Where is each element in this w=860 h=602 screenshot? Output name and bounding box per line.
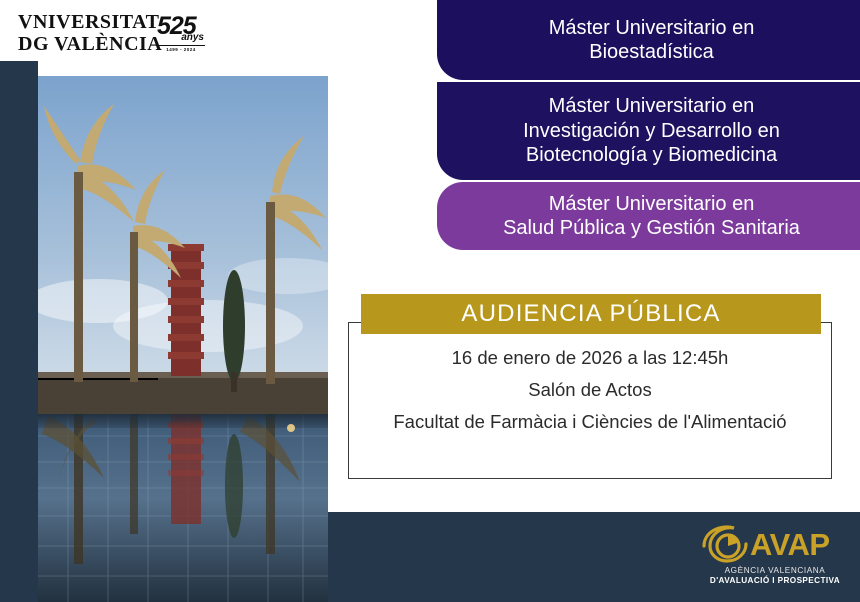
program-block-bioestadistica: Máster Universitario en Bioestadística <box>437 0 860 80</box>
left-accent-strip <box>0 61 38 602</box>
poster-root: VNIVERSITAT DG VALÈNCIA 525 anys 1499 - … <box>0 0 860 602</box>
program-line2: Salud Pública y Gestión Sanitaria <box>503 216 800 240</box>
program-block-biotecnologia-biomedicina: Máster Universitario en Investigación y … <box>437 82 860 180</box>
university-logo: VNIVERSITAT DG VALÈNCIA <box>18 12 158 56</box>
avap-logo: AVAP AGÈNCIA VALENCIANA D'AVALUACIÓ I PR… <box>700 524 850 594</box>
campus-photo <box>38 76 328 602</box>
event-datetime: 16 de enero de 2026 a las 12:45h <box>348 342 832 374</box>
program-block-salud-publica: Máster Universitario en Salud Pública y … <box>437 182 860 250</box>
event-faculty: Facultat de Farmàcia i Ciències de l'Ali… <box>348 406 832 438</box>
avap-eye-icon <box>700 524 756 564</box>
avap-acronym: AVAP <box>750 529 830 560</box>
program-line1: Máster Universitario en <box>549 16 755 40</box>
university-logo-line1: VNIVERSITAT <box>18 12 158 32</box>
program-line3: Biotecnología y Biomedicina <box>523 143 780 167</box>
program-line1: Máster Universitario en <box>503 192 800 216</box>
event-details: 16 de enero de 2026 a las 12:45h Salón d… <box>348 342 832 437</box>
avap-logo-top: AVAP <box>700 524 850 564</box>
university-logo-line2: DG VALÈNCIA <box>18 34 158 54</box>
program-line2: Bioestadística <box>549 40 755 64</box>
program-title-list: Máster Universitario en Bioestadística M… <box>437 0 860 250</box>
campus-photo-illustration <box>38 76 328 602</box>
event-panel: AUDIENCIA PÚBLICA 16 de enero de 2026 a … <box>348 294 832 479</box>
event-venue: Salón de Actos <box>348 374 832 406</box>
event-banner: AUDIENCIA PÚBLICA <box>361 294 821 334</box>
avap-subtitle-line2: D'AVALUACIÓ I PROSPECTIVA <box>700 576 850 585</box>
anniversary-badge: 525 anys 1499 - 2024 <box>157 14 205 56</box>
program-line1: Máster Universitario en <box>523 94 780 118</box>
brick-tower <box>168 244 204 376</box>
avap-subtitle-line1: AGÈNCIA VALENCIANA <box>700 566 850 575</box>
program-line2: Investigación y Desarrollo en <box>523 119 780 143</box>
anniversary-years: 1499 - 2024 <box>157 45 205 52</box>
